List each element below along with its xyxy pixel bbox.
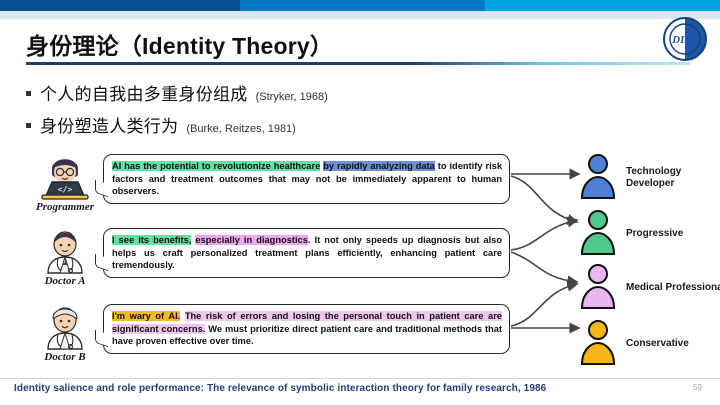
doctor-a-label: Doctor A xyxy=(26,275,104,287)
role-label-progressive: Progressive xyxy=(626,228,720,240)
bullet-item-2: 身份塑造人类行为 (Burke, Reitzes, 1981) xyxy=(26,112,496,137)
identity-diagram: </> Programmer AI has the potential to r… xyxy=(0,150,720,375)
programmer-avatar: </> xyxy=(34,152,96,200)
role-technology-developer: Technology Developer xyxy=(578,152,720,204)
topbar-segment-dark-blue xyxy=(0,0,240,11)
slide: 身份理论（Identity Theory） DISC 个人的自我由多重身份组成 … xyxy=(0,0,720,405)
role-medical-professional: Medical Professional xyxy=(578,262,720,314)
bullet-text-2: 身份塑造人类行为 xyxy=(40,112,178,137)
doctor-b-avatar-block: Doctor B xyxy=(26,302,104,363)
person-icon xyxy=(578,152,618,200)
bullet-marker-icon xyxy=(26,123,31,128)
speech-bubble-programmer: AI has the potential to revolutionize he… xyxy=(103,154,510,204)
bubble-text-doctor-a: I see its benefits, especially in diagno… xyxy=(112,234,502,272)
bullet-item-1: 个人的自我由多重身份组成 (Stryker, 1968) xyxy=(26,80,496,105)
bubble-text-doctor-b: I'm wary of AI. The risk of errors and l… xyxy=(112,310,502,348)
programmer-avatar-block: </> Programmer xyxy=(26,152,104,213)
footer-citation: Identity salience and role performance: … xyxy=(14,383,546,394)
person-icon xyxy=(578,318,618,366)
footer-divider xyxy=(0,378,720,379)
speech-bubble-doctor-b: I'm wary of AI. The risk of errors and l… xyxy=(103,304,510,354)
topbar-underline-band xyxy=(0,11,720,19)
disc-logo-text: DISC xyxy=(671,34,698,46)
highlight-green: AI has the potential to revolutionize he… xyxy=(112,161,320,171)
highlight-blue: by rapidly analyzing data xyxy=(323,161,435,171)
bullet-citation-1: (Stryker, 1968) xyxy=(256,91,328,103)
slide-number: 59 xyxy=(693,383,702,392)
person-icon xyxy=(578,208,618,256)
bullet-list: 个人的自我由多重身份组成 (Stryker, 1968) 身份塑造人类行为 (B… xyxy=(26,80,496,144)
doctor-b-label: Doctor B xyxy=(26,351,104,363)
programmer-label: Programmer xyxy=(26,201,104,213)
highlight-green: I see its benefits, xyxy=(112,235,191,245)
bullet-text-1: 个人的自我由多重身份组成 xyxy=(40,80,248,105)
role-conservative: Conservative xyxy=(578,318,720,370)
bubble-text-programmer: AI has the potential to revolutionize he… xyxy=(112,160,502,198)
topbar-segment-mid-blue xyxy=(240,0,485,11)
role-label-technology-developer: Technology Developer xyxy=(626,166,720,190)
page-title: 身份理论（Identity Theory） xyxy=(26,27,333,61)
person-icon xyxy=(578,262,618,310)
title-divider xyxy=(26,62,690,65)
disc-logo: DISC xyxy=(662,16,708,62)
speech-bubble-doctor-a: I see its benefits, especially in diagno… xyxy=(103,228,510,278)
bullet-citation-2: (Burke, Reitzes, 1981) xyxy=(186,123,295,135)
doctor-a-avatar xyxy=(34,226,96,274)
role-label-medical-professional: Medical Professional xyxy=(626,282,720,294)
highlight-pink: especially in diagnostics xyxy=(195,235,307,245)
doctor-a-avatar-block: Doctor A xyxy=(26,226,104,287)
bullet-marker-icon xyxy=(26,91,31,96)
code-glyph-icon: </> xyxy=(58,185,73,194)
role-progressive: Progressive xyxy=(578,208,720,260)
highlight-orange: I'm wary of AI. xyxy=(112,311,180,321)
top-color-bar xyxy=(0,0,720,11)
topbar-segment-light-blue xyxy=(485,0,720,11)
doctor-b-avatar xyxy=(34,302,96,350)
role-label-conservative: Conservative xyxy=(626,338,720,350)
